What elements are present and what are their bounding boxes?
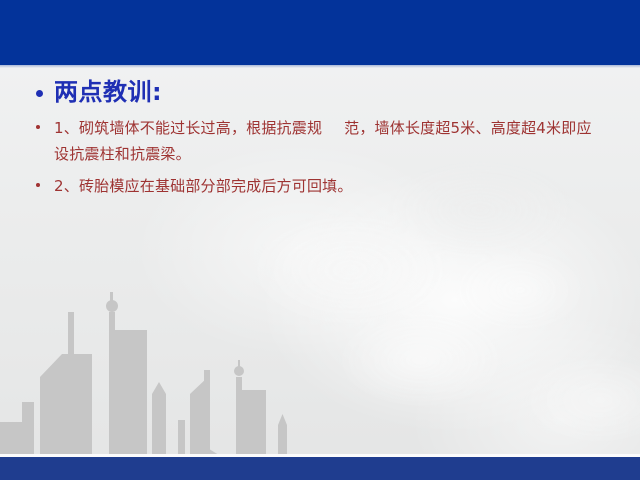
- page-title: 两点教训:: [54, 79, 162, 107]
- bottom-blue-banner: [0, 457, 640, 480]
- top-blue-banner: [0, 0, 640, 65]
- slide-content: 两点教训: 1、砌筑墙体不能过长过高，根据抗震规范，墙体长度超5米、高度超4米即…: [0, 65, 640, 207]
- slide-title-row: 两点教训:: [0, 65, 640, 107]
- slide-canvas: 两点教训: 1、砌筑墙体不能过长过高，根据抗震规范，墙体长度超5米、高度超4米即…: [0, 0, 640, 480]
- list-item-text-part-1: 1、砌筑墙体不能过长过高，根据抗震规: [54, 119, 322, 137]
- list-item: 2、砖胎模应在基础部分部完成后方可回填。: [36, 174, 640, 200]
- city-skyline-silhouette: [0, 282, 300, 457]
- list-item: 1、砌筑墙体不能过长过高，根据抗震规范，墙体长度超5米、高度超4米即应设抗震柱和…: [36, 116, 640, 168]
- list-item-text: 1、砌筑墙体不能过长过高，根据抗震规范，墙体长度超5米、高度超4米即应设抗震柱和…: [54, 116, 599, 168]
- bullet-list: 1、砌筑墙体不能过长过高，根据抗震规范，墙体长度超5米、高度超4米即应设抗震柱和…: [0, 116, 640, 200]
- bullet-dot-icon: [36, 125, 40, 129]
- bullet-dot-icon: [36, 183, 40, 187]
- bullet-dot-icon: [36, 90, 43, 97]
- list-item-text: 2、砖胎模应在基础部分部完成后方可回填。: [54, 174, 599, 200]
